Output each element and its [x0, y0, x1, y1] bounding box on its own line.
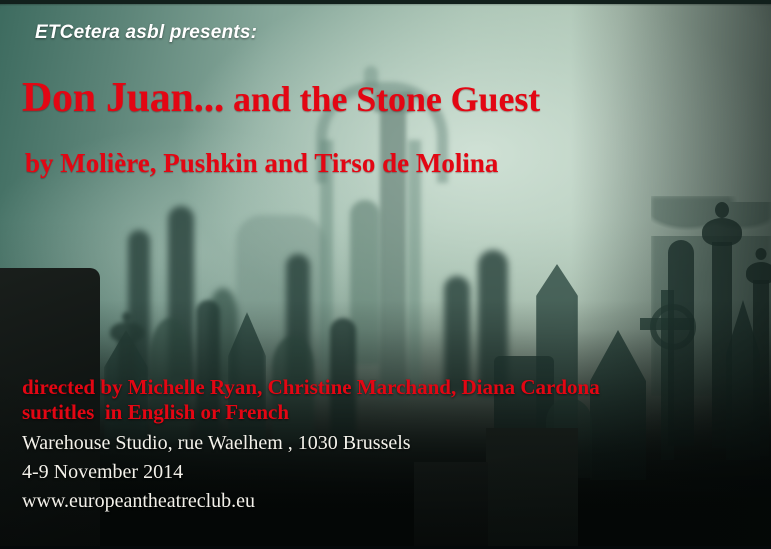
authors-byline: by Molière, Pushkin and Tirso de Molina — [25, 148, 498, 179]
dates-line: 4-9 November 2014 — [22, 458, 600, 487]
title-subtitle: and the Stone Guest — [224, 79, 540, 119]
page-title: Don Juan... and the Stone Guest — [22, 74, 540, 122]
directed-by-line: directed by Michelle Ryan, Christine Mar… — [22, 375, 600, 400]
website-line: www.europeantheatreclub.eu — [22, 487, 600, 516]
theatre-poster: ETCetera asbl presents: Don Juan... and … — [0, 0, 771, 549]
presenter-line: ETCetera asbl presents: — [35, 22, 257, 44]
poster-text-layer: ETCetera asbl presents: Don Juan... and … — [0, 0, 771, 549]
venue-line: Warehouse Studio, rue Waelhem , 1030 Bru… — [22, 429, 600, 458]
surtitles-line: surtitles in English or French — [22, 400, 600, 425]
credits-block: directed by Michelle Ryan, Christine Mar… — [22, 375, 600, 516]
title-main: Don Juan... — [22, 75, 224, 121]
